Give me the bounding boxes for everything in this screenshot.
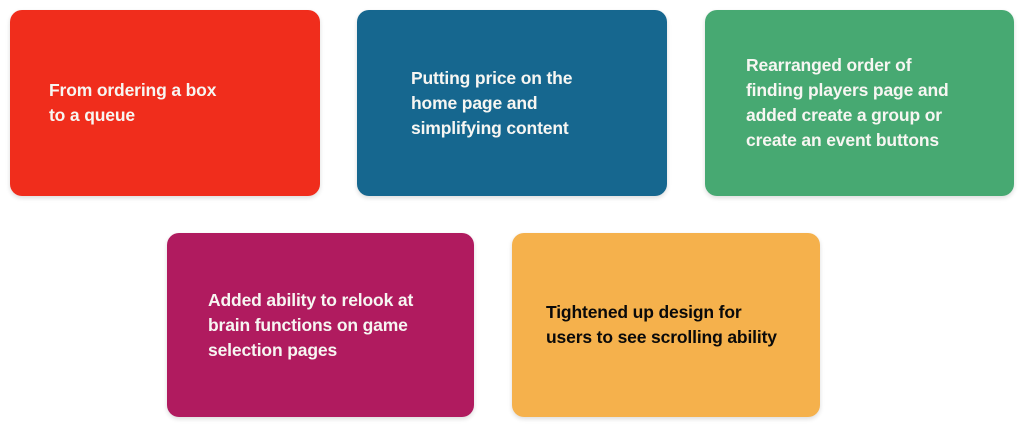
card-scrolling-ability[interactable]: Tightened up design for users to see scr… xyxy=(512,233,820,417)
card-text: From ordering a box to a queue xyxy=(49,78,216,128)
card-text: Rearranged order of finding players page… xyxy=(746,53,949,153)
card-board: From ordering a box to a queue Putting p… xyxy=(0,0,1024,429)
card-brain-functions[interactable]: Added ability to relook at brain functio… xyxy=(167,233,474,417)
card-text: Added ability to relook at brain functio… xyxy=(208,288,413,363)
card-text: Tightened up design for users to see scr… xyxy=(546,300,777,350)
card-price-home-page[interactable]: Putting price on the home page and simpl… xyxy=(357,10,667,196)
card-ordering-queue[interactable]: From ordering a box to a queue xyxy=(10,10,320,196)
card-text: Putting price on the home page and simpl… xyxy=(411,66,572,141)
card-rearranged-players-page[interactable]: Rearranged order of finding players page… xyxy=(705,10,1014,196)
